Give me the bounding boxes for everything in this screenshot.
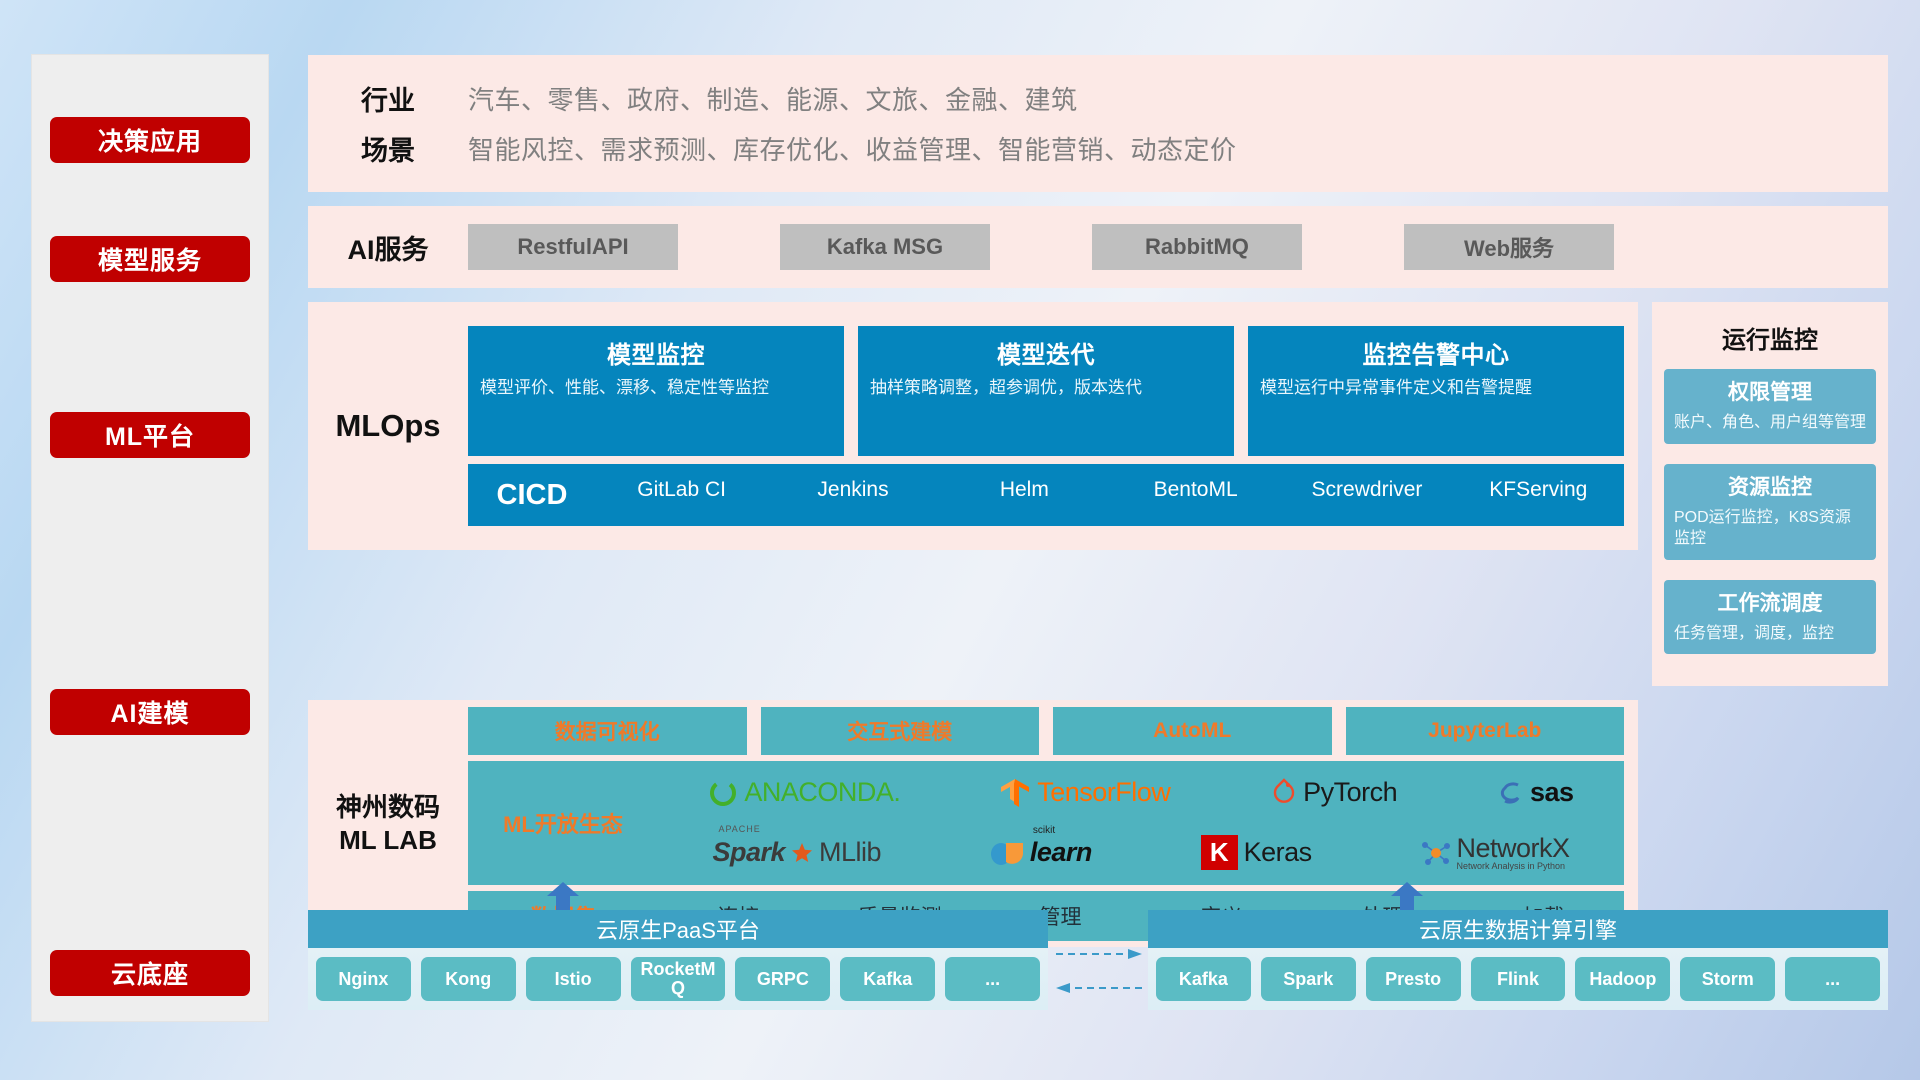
scenario-label: 场景 <box>308 129 468 168</box>
monitor-card-desc: 账户、角色、用户组等管理 <box>1674 412 1866 434</box>
mlops-label: MLOps <box>308 408 468 444</box>
engine-chip-storm[interactable]: Storm <box>1680 957 1775 1001</box>
monitor-card-resource[interactable]: 资源监控 POD运行监控，K8S资源监控 <box>1664 464 1876 560</box>
cicd-item-jenkins[interactable]: Jenkins <box>767 479 938 525</box>
mlops-card-desc: 模型运行中异常事件定义和告警提醒 <box>1260 377 1612 400</box>
monitor-card-title: 权限管理 <box>1674 376 1866 406</box>
mlops-card-title: 模型迭代 <box>870 335 1222 370</box>
spark-apache-tag: APACHE <box>718 824 760 834</box>
cicd-item-bentoml[interactable]: BentoML <box>1110 479 1281 525</box>
mlops-card-model-iteration[interactable]: 模型迭代 抽样策略调整，超参调优，版本迭代 <box>858 326 1234 456</box>
ai-chip-restfulapi[interactable]: RestfulAPI <box>468 224 678 270</box>
anaconda-logo-text: ANACONDA. <box>744 777 900 808</box>
lab-tool-interactive-modeling[interactable]: 交互式建模 <box>761 707 1040 755</box>
ai-service-label: AI服务 <box>308 228 468 267</box>
industry-row: 行业 汽车、零售、政府、制造、能源、文旅、金融、建筑 <box>308 73 1888 123</box>
ml-lab-label-line1: 神州数码 <box>308 791 468 824</box>
cicd-label: CICD <box>468 479 596 512</box>
rail-item-decision-app[interactable]: 决策应用 <box>50 117 250 163</box>
scikit-learn-logo-text: learn <box>1030 837 1092 867</box>
keras-logo: K Keras <box>1201 835 1312 870</box>
industry-label: 行业 <box>308 79 468 118</box>
sas-logo-text: sas <box>1530 777 1574 808</box>
cloud-foundation-layer: 云原生PaaS平台 Nginx Kong Istio RocketMQ GRPC… <box>308 882 1888 1022</box>
sas-logo: sas <box>1498 777 1574 808</box>
monitor-card-workflow[interactable]: 工作流调度 任务管理，调度，监控 <box>1664 580 1876 655</box>
keras-mark-icon: K <box>1201 835 1238 870</box>
mlops-card-model-monitoring[interactable]: 模型监控 模型评价、性能、漂移、稳定性等监控 <box>468 326 844 456</box>
up-arrow-data-engine-icon <box>1390 882 1424 912</box>
industry-scenario-band: 行业 汽车、零售、政府、制造、能源、文旅、金融、建筑 场景 智能风控、需求预测、… <box>308 55 1888 192</box>
anaconda-logo: ANACONDA. <box>708 777 900 808</box>
rail-item-model-service[interactable]: 模型服务 <box>50 236 250 282</box>
ml-lab-tool-list: 数据可视化 交互式建模 AutoML JupyterLab <box>468 707 1624 755</box>
engine-chip-spark[interactable]: Spark <box>1261 957 1356 1001</box>
ml-lab-label: 神州数码 ML LAB <box>308 791 468 856</box>
ai-chip-web-service[interactable]: Web服务 <box>1404 224 1614 270</box>
ai-chip-kafka-msg[interactable]: Kafka MSG <box>780 224 990 270</box>
industry-values: 汽车、零售、政府、制造、能源、文旅、金融、建筑 <box>468 80 1078 117</box>
pytorch-logo-text: PyTorch <box>1303 777 1397 808</box>
mllib-logo-text: MLlib <box>819 837 881 868</box>
paas-chip-list: Nginx Kong Istio RocketMQ GRPC Kafka ... <box>308 948 1048 1010</box>
logo-line-2: APACHE Spark MLlib <box>658 825 1624 881</box>
data-engine-title: 云原生数据计算引擎 <box>1148 910 1888 948</box>
architecture-main-column: 行业 汽车、零售、政府、制造、能源、文旅、金融、建筑 场景 智能风控、需求预测、… <box>308 55 1888 947</box>
runtime-monitor-panel: 运行监控 权限管理 账户、角色、用户组等管理 资源监控 POD运行监控，K8S资… <box>1652 302 1888 686</box>
paas-title: 云原生PaaS平台 <box>308 910 1048 948</box>
lab-tool-jupyterlab[interactable]: JupyterLab <box>1346 707 1625 755</box>
ml-lab-label-line2: ML LAB <box>308 824 468 857</box>
sas-swirl-icon <box>1498 779 1524 807</box>
ai-service-band: AI服务 RestfulAPI Kafka MSG RabbitMQ Web服务 <box>308 206 1888 288</box>
spark-logo-text: Spark <box>712 837 785 867</box>
cloud-native-paas-block: 云原生PaaS平台 Nginx Kong Istio RocketMQ GRPC… <box>308 910 1048 1010</box>
cloud-native-data-engine-block: 云原生数据计算引擎 Kafka Spark Presto Flink Hadoo… <box>1148 910 1888 1010</box>
paas-chip-kafka[interactable]: Kafka <box>840 957 935 1001</box>
runtime-monitor-title: 运行监控 <box>1664 320 1876 355</box>
networkx-logo-text: NetworkX <box>1457 833 1570 863</box>
pytorch-flame-icon <box>1271 778 1297 808</box>
paas-chip-more[interactable]: ... <box>945 957 1040 1001</box>
engine-chip-kafka[interactable]: Kafka <box>1156 957 1251 1001</box>
keras-logo-text: Keras <box>1244 837 1312 868</box>
paas-chip-kong[interactable]: Kong <box>421 957 516 1001</box>
rail-item-cloud-base[interactable]: 云底座 <box>50 950 250 996</box>
paas-chip-nginx[interactable]: Nginx <box>316 957 411 1001</box>
spark-mllib-logo: APACHE Spark MLlib <box>712 837 881 868</box>
monitor-card-permission[interactable]: 权限管理 账户、角色、用户组等管理 <box>1664 369 1876 444</box>
scikit-learn-logo: scikit learn <box>990 837 1092 868</box>
ml-open-ecosystem-label: ML开放生态 <box>468 807 658 839</box>
engine-chip-more[interactable]: ... <box>1785 957 1880 1001</box>
bidirectional-dashed-link-icon <box>1056 940 1142 1002</box>
mlops-card-desc: 模型评价、性能、漂移、稳定性等监控 <box>480 377 832 400</box>
spark-star-icon <box>791 842 813 864</box>
scikit-blob-icon <box>990 840 1024 866</box>
cicd-item-kfserving[interactable]: KFServing <box>1453 479 1624 525</box>
cicd-item-gitlab-ci[interactable]: GitLab CI <box>596 479 767 525</box>
ml-open-ecosystem-row: ML开放生态 ANACONDA. <box>468 761 1624 885</box>
engine-chip-presto[interactable]: Presto <box>1366 957 1461 1001</box>
mlops-band: MLOps 模型监控 模型评价、性能、漂移、稳定性等监控 模型迭代 抽样策略调整… <box>308 302 1638 550</box>
mlops-card-desc: 抽样策略调整，超参调优，版本迭代 <box>870 377 1222 400</box>
logo-line-1: ANACONDA. TensorFlow <box>658 765 1624 821</box>
paas-chip-rocketmq[interactable]: RocketMQ <box>631 957 726 1001</box>
cicd-bar: CICD GitLab CI Jenkins Helm BentoML Scre… <box>468 464 1624 526</box>
lab-tool-automl[interactable]: AutoML <box>1053 707 1332 755</box>
mlops-and-monitor-row: MLOps 模型监控 模型评价、性能、漂移、稳定性等监控 模型迭代 抽样策略调整… <box>308 302 1888 686</box>
monitor-card-desc: POD运行监控，K8S资源监控 <box>1674 507 1866 550</box>
mlops-card-title: 模型监控 <box>480 335 832 370</box>
ecosystem-logo-grid: ANACONDA. TensorFlow <box>658 765 1624 881</box>
rail-item-ai-modeling[interactable]: AI建模 <box>50 689 250 735</box>
paas-chip-istio[interactable]: Istio <box>526 957 621 1001</box>
up-arrow-paas-icon <box>546 882 580 912</box>
tensorflow-mark-icon <box>1001 777 1031 809</box>
engine-chip-hadoop[interactable]: Hadoop <box>1575 957 1670 1001</box>
cicd-item-helm[interactable]: Helm <box>939 479 1110 525</box>
data-engine-chip-list: Kafka Spark Presto Flink Hadoop Storm ..… <box>1148 948 1888 1010</box>
mlops-card-list: 模型监控 模型评价、性能、漂移、稳定性等监控 模型迭代 抽样策略调整，超参调优，… <box>468 326 1624 456</box>
mlops-card-title: 监控告警中心 <box>1260 335 1612 370</box>
monitor-card-title: 工作流调度 <box>1674 587 1866 617</box>
networkx-graph-icon <box>1421 839 1451 867</box>
tensorflow-logo-text: TensorFlow <box>1037 777 1170 808</box>
paas-chip-grpc[interactable]: GRPC <box>735 957 830 1001</box>
monitor-card-desc: 任务管理，调度，监控 <box>1674 623 1866 645</box>
networkx-logo: NetworkX Network Analysis in Python <box>1421 835 1570 871</box>
networkx-tagline: Network Analysis in Python <box>1457 862 1570 871</box>
ai-chip-rabbitmq[interactable]: RabbitMQ <box>1092 224 1302 270</box>
mlops-card-alert-center[interactable]: 监控告警中心 模型运行中异常事件定义和告警提醒 <box>1248 326 1624 456</box>
monitor-card-title: 资源监控 <box>1674 471 1866 501</box>
tensorflow-logo: TensorFlow <box>1001 777 1170 809</box>
rail-item-ml-platform[interactable]: ML平台 <box>50 412 250 458</box>
cicd-item-screwdriver[interactable]: Screwdriver <box>1281 479 1452 525</box>
engine-chip-flink[interactable]: Flink <box>1471 957 1566 1001</box>
ai-service-chip-list: RestfulAPI Kafka MSG RabbitMQ Web服务 <box>468 224 1888 270</box>
scenario-row: 场景 智能风控、需求预测、库存优化、收益管理、智能营销、动态定价 <box>308 123 1888 173</box>
scikit-tag: scikit <box>1033 825 1055 836</box>
mlops-content: 模型监控 模型评价、性能、漂移、稳定性等监控 模型迭代 抽样策略调整，超参调优，… <box>468 326 1638 526</box>
anaconda-ring-icon <box>708 778 738 808</box>
lab-tool-data-visualization[interactable]: 数据可视化 <box>468 707 747 755</box>
left-stack-rail: 决策应用 模型服务 ML平台 AI建模 云底座 <box>32 55 268 1021</box>
scenario-values: 智能风控、需求预测、库存优化、收益管理、智能营销、动态定价 <box>468 130 1237 167</box>
pytorch-logo: PyTorch <box>1271 777 1397 808</box>
